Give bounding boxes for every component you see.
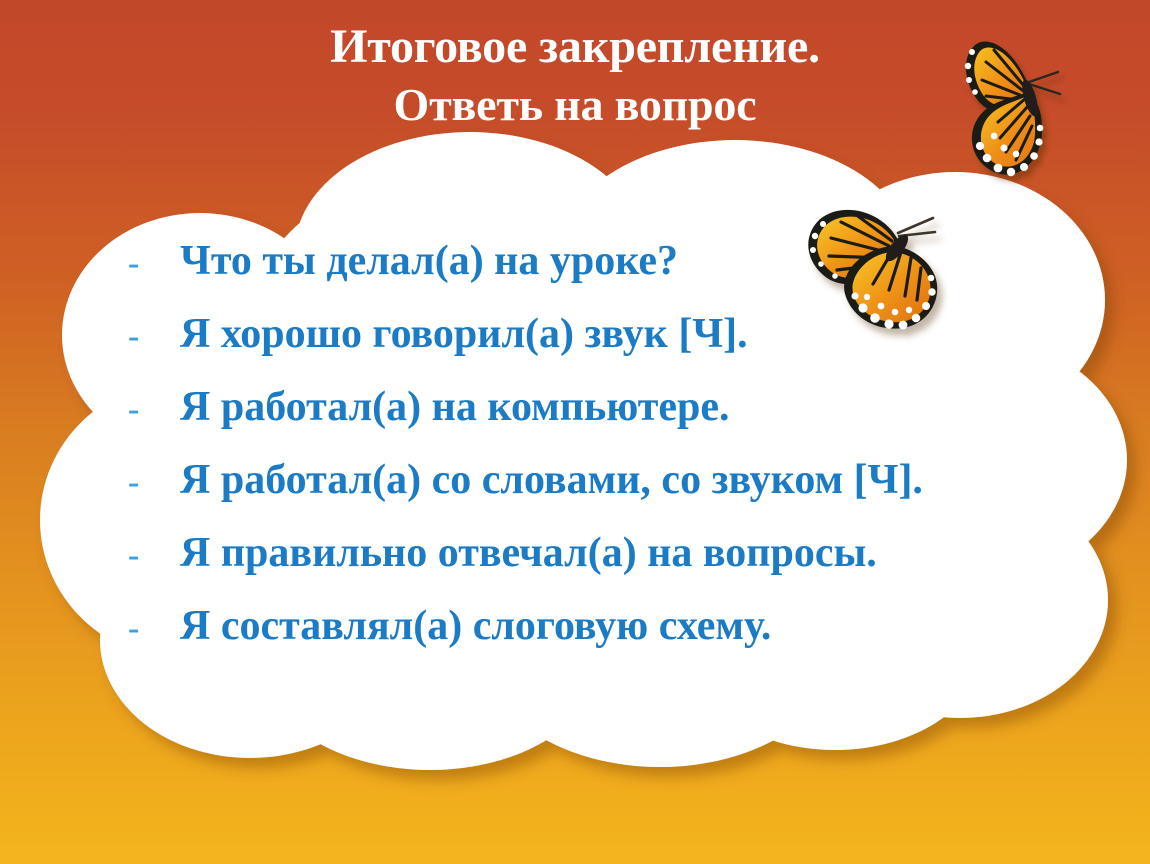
- presentation-slide: Итоговое закрепление. Ответь на вопрос -…: [0, 0, 1150, 864]
- monarch-butterfly-icon: [950, 22, 1080, 187]
- cloud-body: [40, 132, 1127, 770]
- monarch-butterfly-icon: [793, 198, 948, 348]
